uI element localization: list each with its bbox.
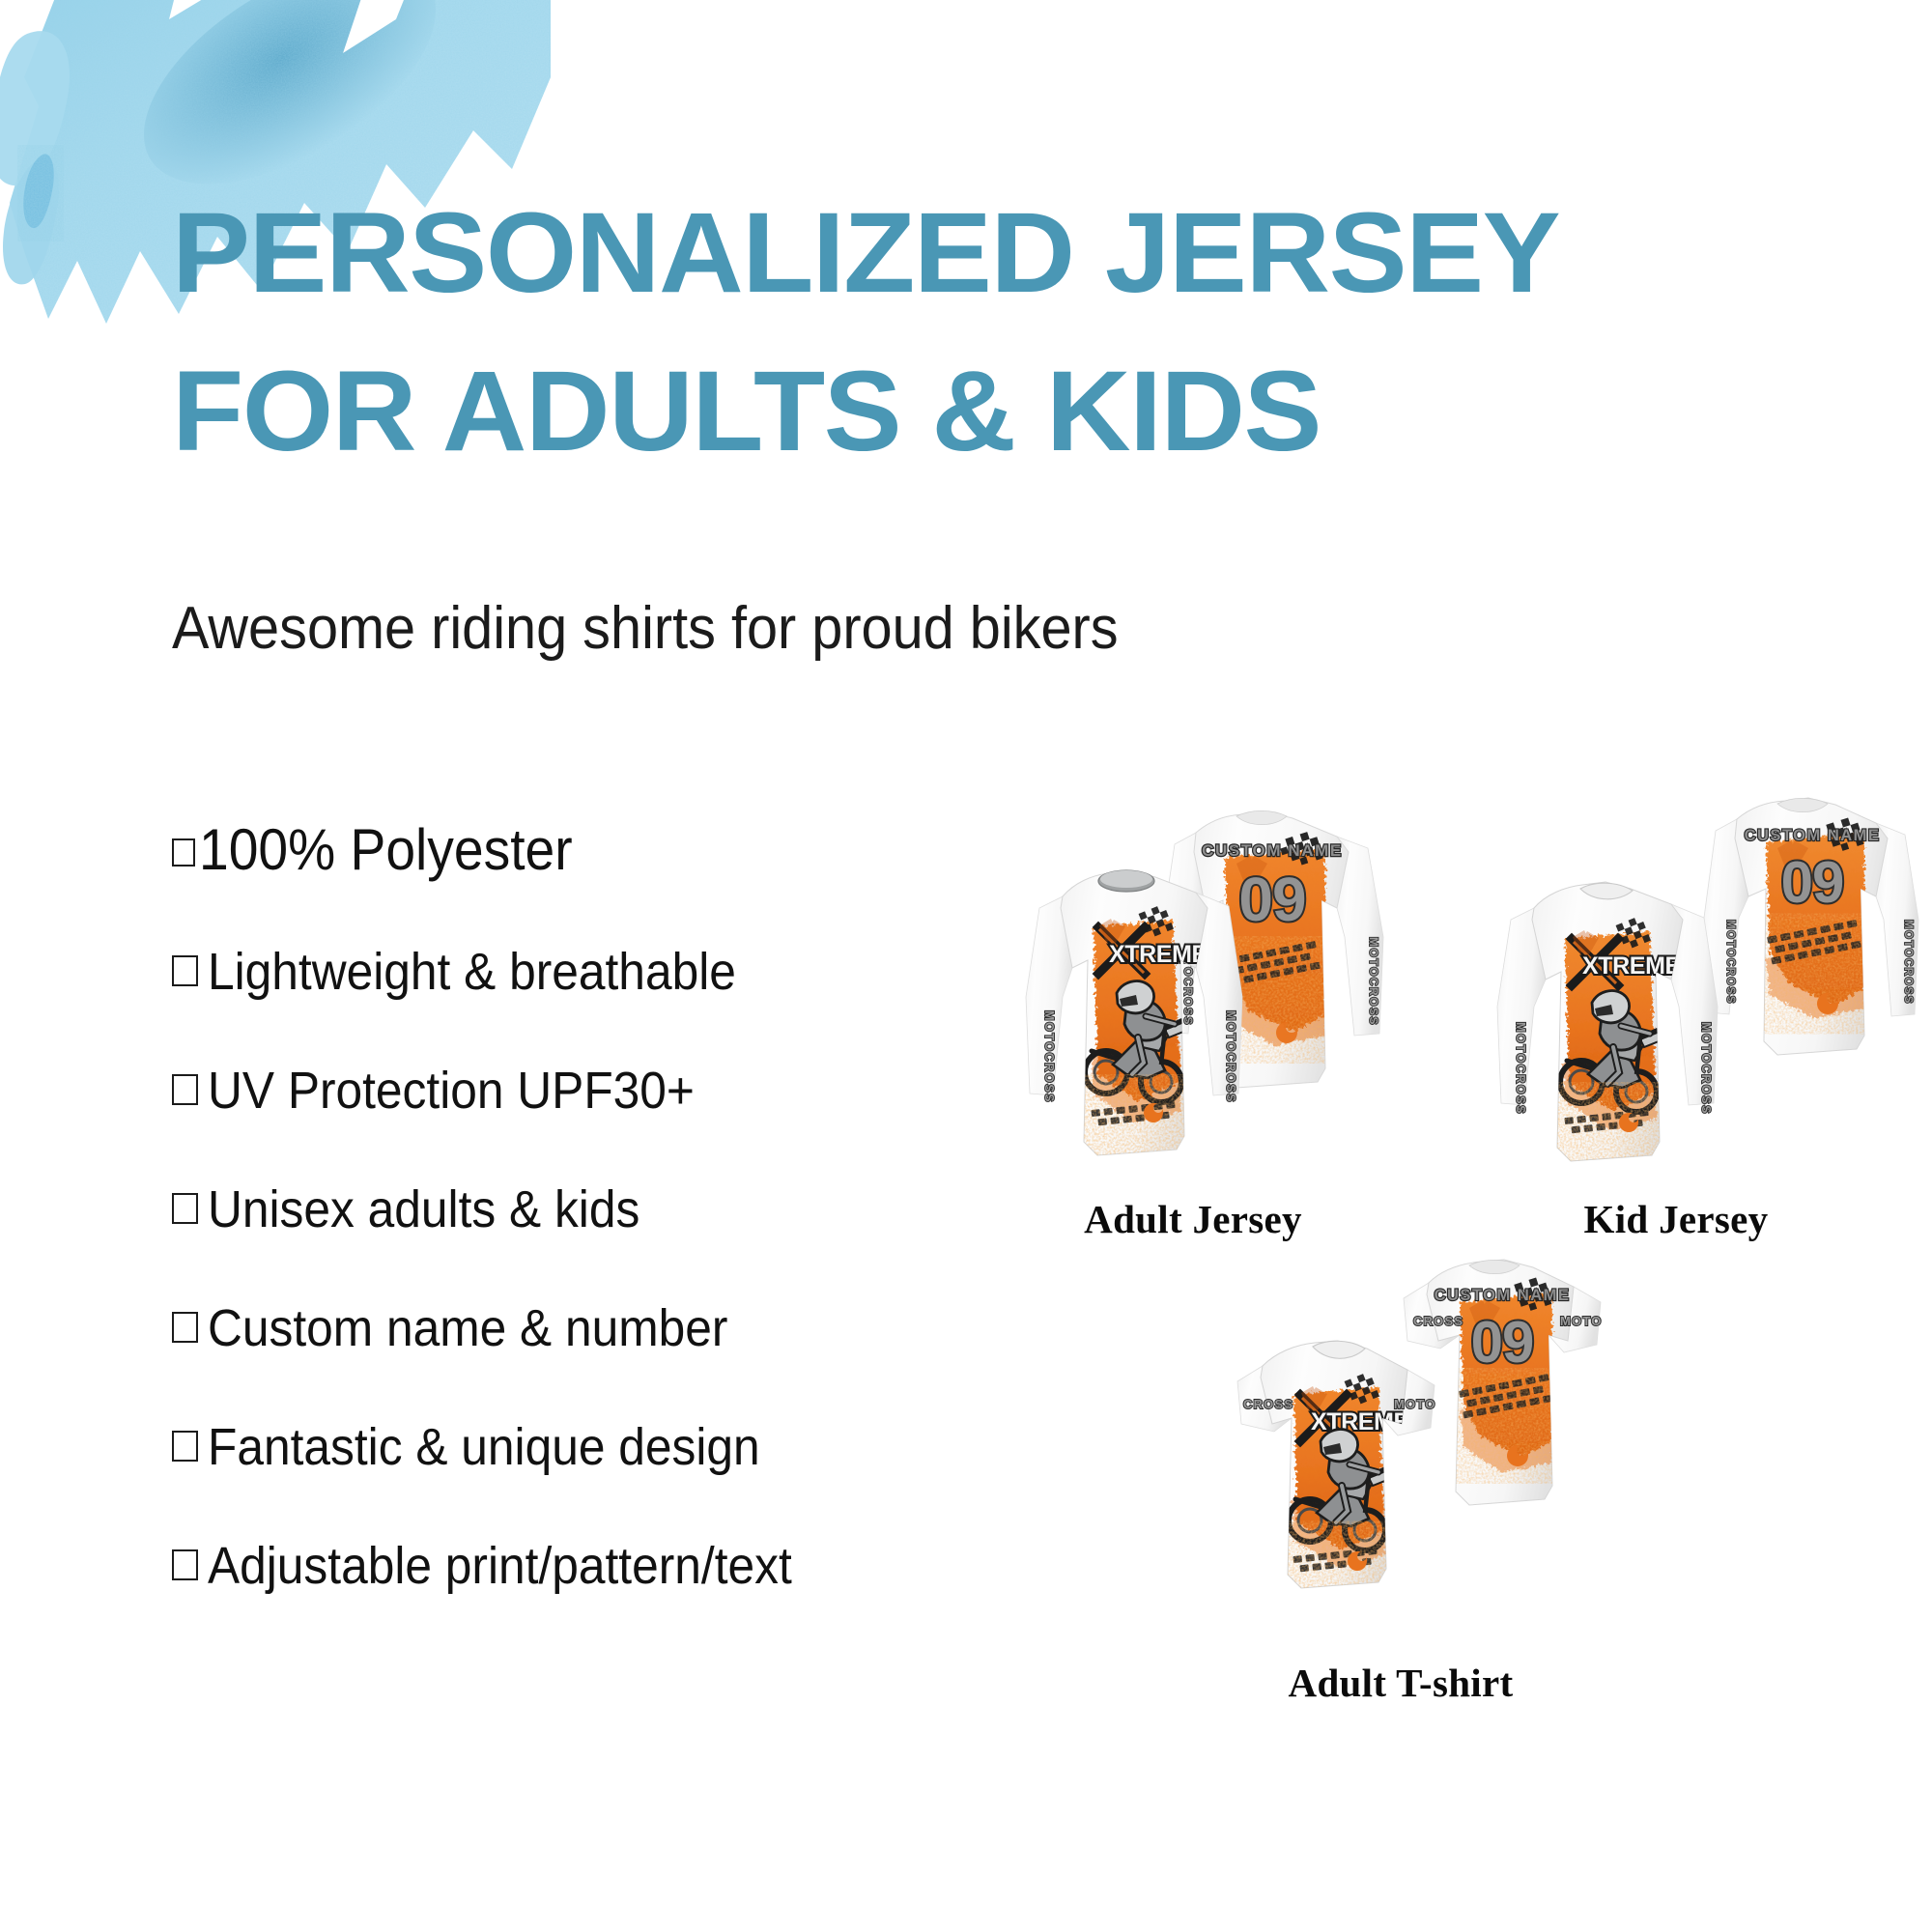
list-item-label: Fantastic & unique design [208, 1417, 760, 1477]
list-item: Custom name & number [172, 1298, 945, 1358]
front-logo-print: XTREME [1582, 952, 1681, 980]
custom-number-print: 09 [1471, 1310, 1534, 1375]
list-item: Fantastic & unique design [172, 1417, 945, 1477]
page-title-line-1: PERSONALIZED JERSEY [172, 198, 1495, 308]
empty-checkbox-icon [172, 1431, 198, 1462]
empty-checkbox-icon [172, 1312, 198, 1343]
sleeve-text-print: MOTOCROSS [1514, 1022, 1527, 1115]
kid-jersey-back-view: CUSTOM NAME 09 MOTOCROSS MOTOCROSS [1704, 798, 1918, 1055]
custom-name-print: CUSTOM NAME [1202, 841, 1343, 860]
kid-jersey-front-view: XTREME [1497, 882, 1718, 1163]
empty-checkbox-icon [172, 838, 195, 867]
sleeve-text-print: MOTOCROSS [1042, 1010, 1056, 1103]
sleeve-text-print: MOTOCROSS [1724, 920, 1736, 1005]
sleeve-text-print-right: MOTO [1560, 1314, 1603, 1328]
list-item: Adjustable print/pattern/text [172, 1536, 945, 1596]
empty-checkbox-icon [172, 1074, 198, 1105]
product-caption: Adult Jersey [947, 1196, 1439, 1242]
product-caption: Kid Jersey [1430, 1196, 1922, 1242]
list-item: Unisex adults & kids [172, 1179, 945, 1239]
page-title-line-2: FOR ADULTS & KIDS [172, 356, 1495, 467]
custom-number-print: 09 [1781, 850, 1844, 915]
product-adult-tshirt[interactable]: CUSTOM NAME 09 CROSS MOTO [1154, 1244, 1647, 1698]
page-title: PERSONALIZED JERSEY FOR ADULTS & KIDS [172, 198, 1457, 468]
adult-tshirt-back-view: CUSTOM NAME 09 CROSS MOTO [1404, 1260, 1603, 1505]
svg-text:CUSTOM NAME: CUSTOM NAME [1202, 841, 1343, 860]
custom-number-print: 09 [1238, 865, 1305, 934]
list-item: Lightweight & breathable [172, 942, 945, 1002]
adult-tshirt-image: CUSTOM NAME 09 CROSS MOTO [1154, 1244, 1647, 1660]
sleeve-text-print: MOTOCROSS [1224, 1010, 1237, 1103]
empty-checkbox-icon [172, 1549, 198, 1580]
kid-jersey-image: CUSTOM NAME 09 MOTOCROSS MOTOCROSS [1430, 782, 1922, 1198]
list-item-label: Adjustable print/pattern/text [208, 1536, 792, 1596]
empty-checkbox-icon [172, 955, 198, 986]
sleeve-text-print-left: CROSS [1243, 1397, 1293, 1411]
page-subtitle: Awesome riding shirts for proud bikers [172, 594, 1119, 663]
product-adult-jersey[interactable]: CUSTOM NAME 09 MOTOCROSS MOTOCROSS [947, 792, 1439, 1246]
list-item-label: Unisex adults & kids [208, 1179, 639, 1239]
sleeve-text-print: MOTOCROSS [1699, 1022, 1713, 1115]
sleeve-text-print-right: MOTO [1394, 1397, 1436, 1411]
list-item-label: UV Protection UPF30+ [208, 1061, 695, 1121]
svg-text:09: 09 [1238, 865, 1305, 934]
sleeve-text-print-left: CROSS [1413, 1314, 1463, 1328]
empty-checkbox-icon [172, 1193, 198, 1224]
list-item: 100% Polyester [172, 816, 945, 883]
adult-jersey-image: CUSTOM NAME 09 MOTOCROSS MOTOCROSS [947, 792, 1439, 1198]
product-gallery: CUSTOM NAME 09 MOTOCROSS MOTOCROSS [947, 792, 1913, 1758]
sleeve-text-print: MOTOCROSS [1902, 920, 1914, 1005]
list-item-label: Custom name & number [208, 1298, 727, 1358]
product-caption: Adult T-shirt [1154, 1660, 1647, 1706]
custom-name-print: CUSTOM NAME [1435, 1287, 1571, 1304]
list-item-label: Lightweight & breathable [208, 942, 736, 1002]
sleeve-text-print: MOTOCROSS [1367, 937, 1380, 1026]
list-item: UV Protection UPF30+ [172, 1061, 945, 1121]
custom-name-print: CUSTOM NAME [1745, 827, 1881, 844]
adult-tshirt-front-view: XTREME [1237, 1341, 1436, 1598]
list-item-label: 100% Polyester [199, 816, 573, 883]
svg-text:XTREME: XTREME [1109, 941, 1207, 968]
feature-list: 100% Polyester Lightweight & breathable … [172, 816, 945, 1655]
front-logo-print: XTREME [1109, 941, 1207, 968]
product-kid-jersey[interactable]: CUSTOM NAME 09 MOTOCROSS MOTOCROSS [1430, 782, 1922, 1236]
adult-jersey-front-view: XTREME [1026, 870, 1242, 1157]
